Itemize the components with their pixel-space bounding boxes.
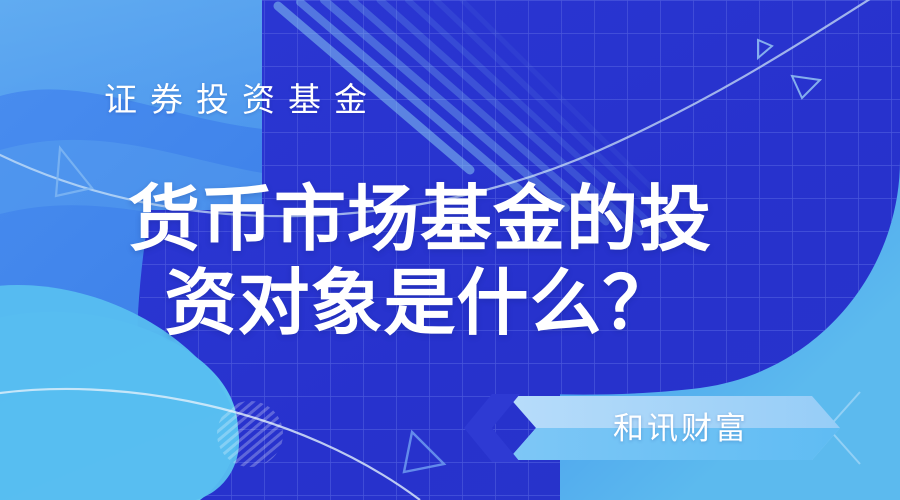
striped-circle-decoration (217, 401, 283, 467)
poster-subtitle: 证券投资基金 (104, 78, 380, 122)
poster-title-line-2: 资对象是什么？ (60, 262, 780, 346)
brand-banner-label: 和讯财富 (556, 409, 806, 449)
poster-title: 货币市场基金的投 资对象是什么？ (60, 178, 780, 346)
poster-title-line-1: 货币市场基金的投 (60, 178, 780, 262)
poster-canvas: 证券投资基金 货币市场基金的投 资对象是什么？ 和讯财富 (0, 0, 900, 500)
